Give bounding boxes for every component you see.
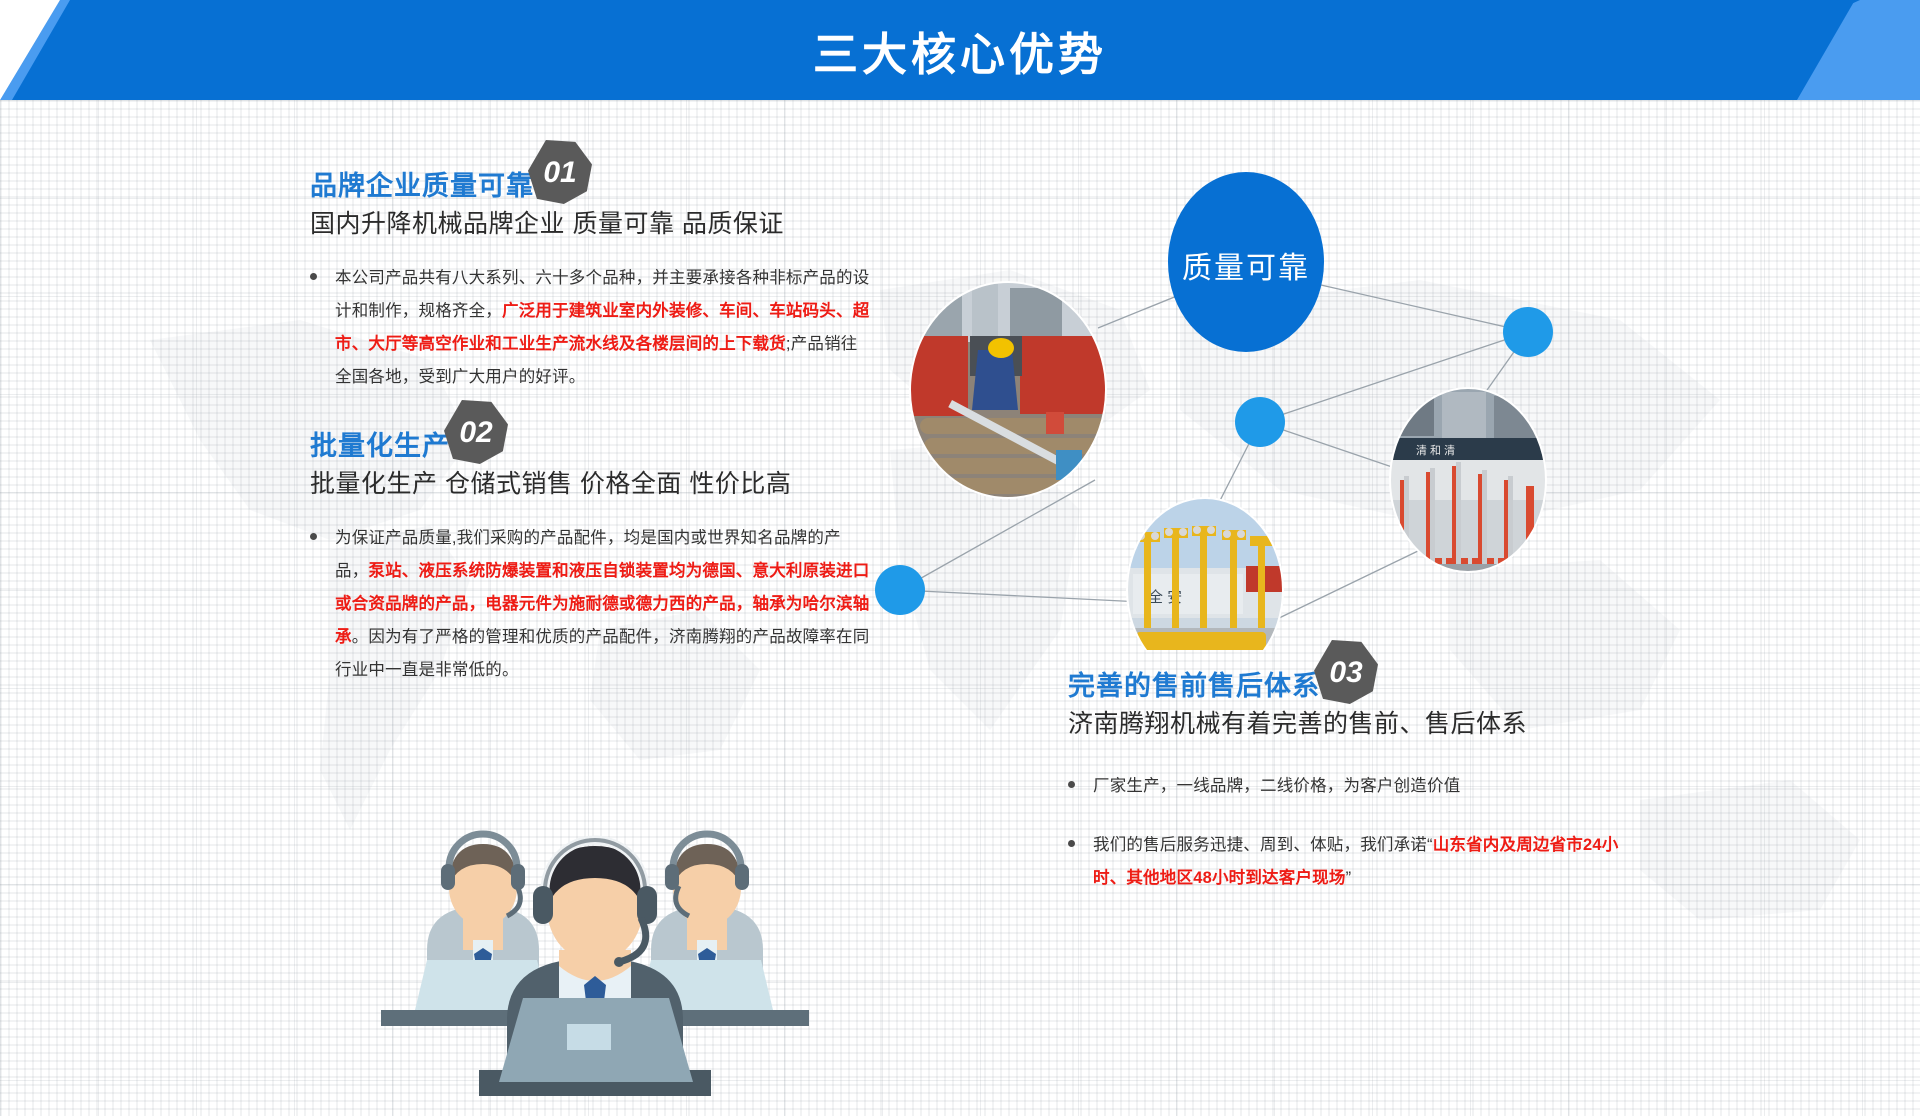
network-svg: 清 和 清	[860, 150, 1560, 650]
advantage-section-03: 完善的售前售后体系 03 济南腾翔机械有着完善的售前、售后体系 厂家生产，一线品…	[1068, 640, 1628, 913]
section-02-subtitle: 批量化生产 仓储式销售 价格全面 性价比高	[310, 464, 870, 500]
section-01-heading-row: 品牌企业质量可靠 01	[310, 140, 870, 200]
section-01-number: 01	[528, 141, 592, 205]
section-03-bullet-list: 厂家生产，一线品牌，二线价格，为客户创造价值 我们的售后服务迅捷、周到、体贴，我…	[1068, 770, 1628, 895]
section-02-number: 02	[444, 401, 508, 465]
yellow-lift-fleet-photo: 全 安	[1127, 498, 1283, 650]
body-text-run: 厂家生产，一线品牌，二线价格，为客户创造价值	[1093, 777, 1460, 795]
section-02-number-badge: 02	[444, 400, 508, 464]
page-title: 三大核心优势	[0, 0, 1920, 100]
network-center-label: 质量可靠	[1168, 243, 1324, 287]
section-03-title: 完善的售前售后体系	[1068, 673, 1320, 700]
section-01-subtitle: 国内升降机械品牌企业 质量可靠 品质保证	[310, 204, 870, 240]
list-item: 厂家生产，一线品牌，二线价格，为客户创造价值	[1068, 770, 1628, 803]
section-03-bullet-text-1: 厂家生产，一线品牌，二线价格，为客户创造价值	[1093, 770, 1460, 803]
advantage-section-01: 品牌企业质量可靠 01 国内升降机械品牌企业 质量可靠 品质保证 本公司产品共有…	[310, 140, 870, 412]
body-text-run: 我们的售后服务迅捷、周到、体贴，我们承诺“	[1093, 836, 1433, 854]
node-center	[1235, 397, 1285, 447]
body-text-run: 。因为有了严格的管理和优质的产品配件，济南腾翔的产品故障率在同行业中一直是非常低…	[335, 628, 869, 679]
advantage-section-02: 批量化生产 02 批量化生产 仓储式销售 价格全面 性价比高 为保证产品质量,我…	[310, 400, 870, 705]
svg-text:清 和 清: 清 和 清	[1416, 444, 1455, 457]
factory-worker-photo	[910, 282, 1106, 498]
section-02-bullet-text: 为保证产品质量,我们采购的产品配件，均是国内或世界知名品牌的产品，泵站、液压系统…	[335, 522, 870, 687]
section-01-title: 品牌企业质量可靠	[310, 173, 534, 200]
bullet-dot-icon	[1068, 840, 1075, 847]
list-item: 为保证产品质量,我们采购的产品配件，均是国内或世界知名品牌的产品，泵站、液压系统…	[310, 522, 870, 687]
section-03-subtitle: 济南腾翔机械有着完善的售前、售后体系	[1068, 704, 1628, 740]
section-02-heading-row: 批量化生产 02	[310, 400, 870, 460]
customer-support-team-illustration	[345, 790, 845, 1116]
section-02-bullet-list: 为保证产品质量,我们采购的产品配件，均是国内或世界知名品牌的产品，泵站、液压系统…	[310, 522, 870, 687]
section-02-title: 批量化生产	[310, 433, 450, 460]
node-right-top	[1503, 307, 1553, 357]
section-01-bullet-text: 本公司产品共有八大系列、六十多个品种，并主要承接各种非标产品的设计和制作，规格齐…	[335, 262, 870, 394]
support-illustration-svg	[345, 790, 845, 1116]
bullet-dot-icon	[310, 533, 317, 540]
list-item: 我们的售后服务迅捷、周到、体贴，我们承诺“山东省内及周边省市24小时、其他地区4…	[1068, 829, 1628, 895]
section-03-number: 03	[1314, 641, 1378, 705]
list-item: 本公司产品共有八大系列、六十多个品种，并主要承接各种非标产品的设计和制作，规格齐…	[310, 262, 870, 394]
node-left-bottom	[875, 565, 925, 615]
section-03-bullet-text-2: 我们的售后服务迅捷、周到、体贴，我们承诺“山东省内及周边省市24小时、其他地区4…	[1093, 829, 1628, 895]
body-text-run: ”	[1346, 869, 1352, 887]
bullet-dot-icon	[310, 273, 317, 280]
section-01-bullet-list: 本公司产品共有八大系列、六十多个品种，并主要承接各种非标产品的设计和制作，规格齐…	[310, 262, 870, 394]
quality-network-diagram: 清 和 清	[860, 150, 1560, 650]
page-header-banner: 三大核心优势	[0, 0, 1920, 100]
section-01-number-badge: 01	[528, 140, 592, 204]
bullet-dot-icon	[1068, 781, 1075, 788]
